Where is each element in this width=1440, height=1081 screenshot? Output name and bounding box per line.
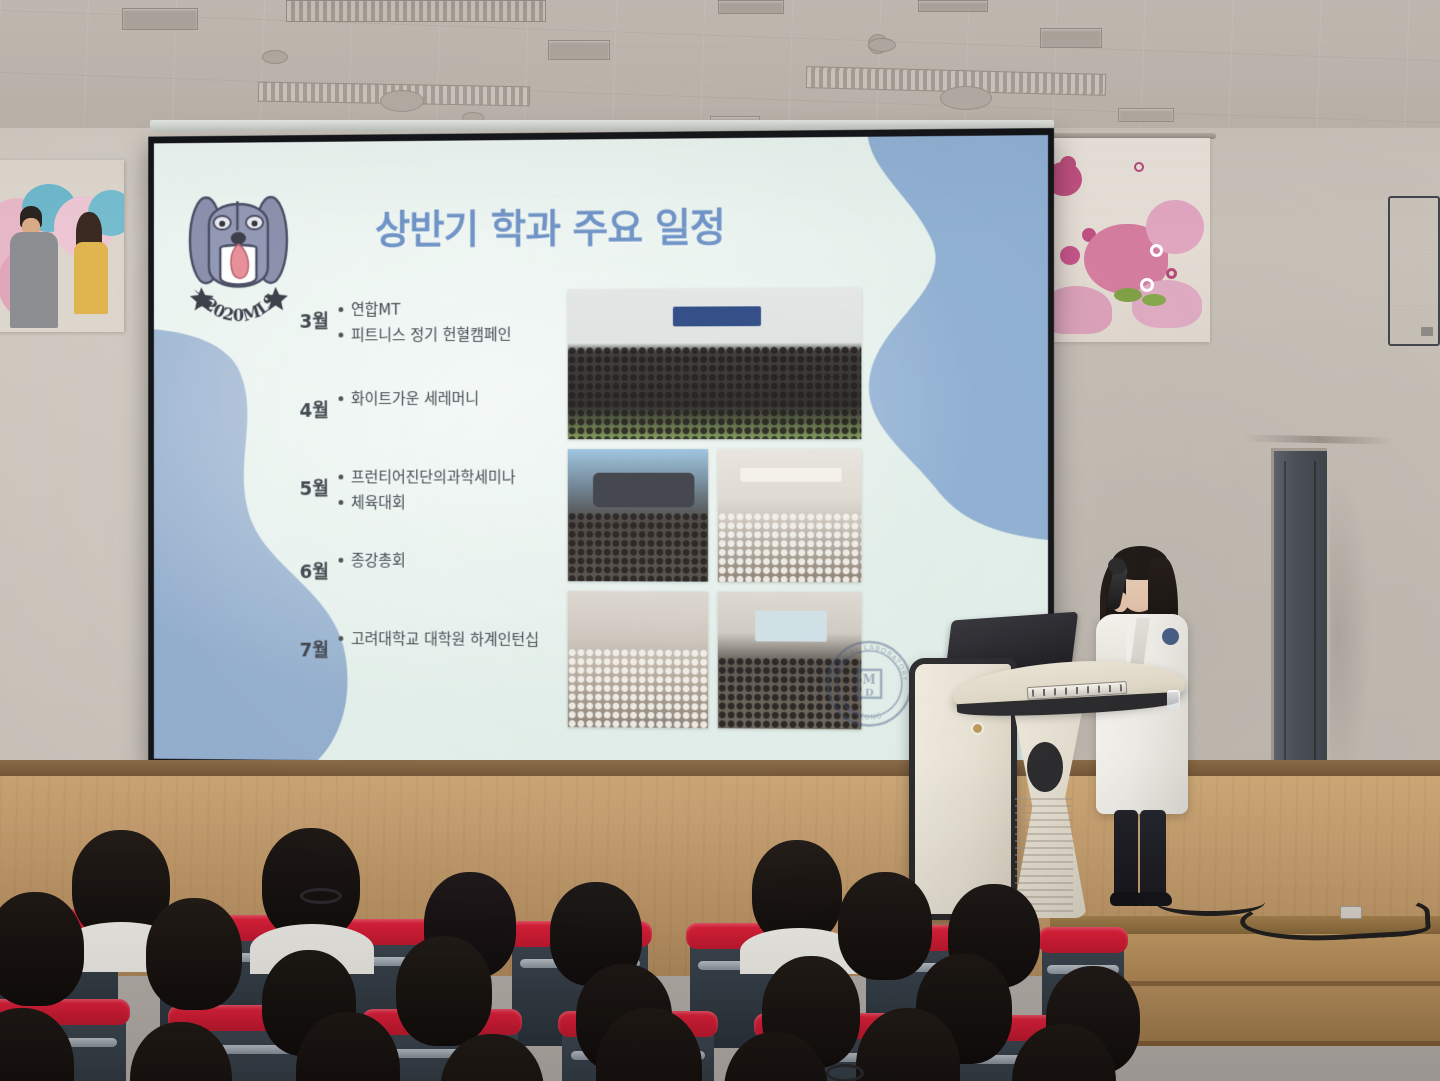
- photo-white-gown-ceremony: [718, 449, 862, 582]
- svg-text:D: D: [865, 688, 874, 699]
- mls-dog-mascot-logo: 2020MLS: [188, 183, 289, 328]
- blossom-leaf: [1114, 288, 1142, 302]
- poster-figure-male: [10, 232, 58, 328]
- lectern-lock-icon[interactable]: [973, 724, 982, 733]
- ceiling-smoke-detector: [868, 38, 896, 52]
- agenda-row: 7월 고려대학교 대학원 하계인턴십: [296, 627, 556, 664]
- door-panel-line: [1314, 461, 1316, 800]
- seated-audience: [0, 826, 1440, 1081]
- ceiling-light-fixture: [286, 0, 546, 22]
- agenda-items: 고려대학교 대학원 하계인턴십: [339, 627, 557, 653]
- ceiling-vent: [1118, 108, 1174, 122]
- audience-head: [146, 898, 242, 1010]
- photo-crowd: [568, 512, 708, 581]
- audience-glasses-icon: [300, 888, 342, 904]
- photo-ceremony-hall-large: [568, 288, 862, 439]
- audience-glasses-icon: [826, 1064, 864, 1081]
- audience-head: [838, 872, 932, 980]
- wall-speaker: [1388, 196, 1440, 346]
- speaker-badge: [1421, 327, 1433, 336]
- bullet-icon: [339, 332, 344, 337]
- agenda-item: 고려대학교 대학원 하계인턴십: [339, 627, 557, 653]
- blossom-ring: [1150, 244, 1163, 257]
- audience-head: [396, 936, 492, 1046]
- svg-text:2020MLS: 2020MLS: [201, 289, 282, 325]
- agenda-row: 4월 화이트가운 세레머니: [296, 387, 556, 423]
- ceiling-speaker: [380, 90, 424, 112]
- blossom-ring: [1140, 278, 1154, 292]
- agenda-item: 화이트가운 세레머니: [339, 387, 557, 412]
- agenda-item-label: 연합MT: [351, 298, 400, 323]
- department-seal: M D MEDICAL LABORATORY SEOKYEONG: [826, 640, 913, 728]
- blossom-ring: [1134, 162, 1144, 172]
- agenda-item: 피트니스 정기 헌혈캠페인: [339, 322, 557, 348]
- agenda-item-label: 종강총회: [351, 549, 406, 574]
- agenda-month: 5월: [296, 466, 338, 501]
- student-illustration-poster: [0, 160, 124, 332]
- agenda-items: 종강총회: [339, 549, 557, 575]
- photo-collage: [568, 288, 862, 735]
- agenda-month: 4월: [296, 388, 338, 423]
- svg-text:M: M: [863, 673, 876, 687]
- photo-projection: [755, 611, 827, 641]
- bullet-icon: [339, 636, 344, 641]
- ceiling-vent: [548, 40, 610, 60]
- ceiling-smoke-detector: [262, 50, 288, 64]
- agenda-item: 체육대회: [339, 491, 557, 516]
- agenda-item: 종강총회: [339, 549, 557, 575]
- agenda-month: 7월: [296, 627, 338, 662]
- blossom-leaf: [1142, 294, 1166, 306]
- agenda-item-label: 체육대회: [351, 491, 406, 516]
- photo-crowd: [568, 648, 708, 728]
- ceiling-vent: [122, 8, 198, 30]
- photo-gown-banner: [741, 468, 841, 483]
- door-panel-line: [1284, 461, 1286, 800]
- audience-head: [0, 892, 84, 1006]
- blossom-petal: [1060, 246, 1080, 265]
- blossom-petal: [1060, 156, 1076, 172]
- ceiling-vent: [718, 0, 784, 14]
- seat-cushion: [1038, 927, 1128, 953]
- wall-shadow: [1330, 470, 1372, 800]
- bullet-icon: [339, 500, 344, 505]
- agenda-item: 연합MT: [339, 297, 557, 323]
- photo-blood-donation-bus: [568, 449, 708, 582]
- ceiling-tile-grid: [0, 0, 1440, 135]
- blossom-ring: [1166, 268, 1177, 279]
- ceiling-speaker: [940, 86, 992, 110]
- slide-title: 상반기 학과 주요 일정: [375, 195, 793, 255]
- agenda-item-label: 프런티어진단의과학세미나: [351, 466, 516, 491]
- lectern-speaker: [1027, 742, 1063, 792]
- photo-stage-banner: [673, 306, 761, 326]
- bullet-icon: [339, 307, 344, 312]
- ceiling-vent: [1040, 28, 1102, 48]
- lab-coat-emblem: [1162, 628, 1179, 645]
- agenda-row: 3월 연합MT 피트니스 정기 헌혈캠페인: [296, 297, 556, 348]
- bullet-icon: [339, 396, 344, 401]
- control-panel-buttons[interactable]: [1032, 684, 1122, 696]
- agenda-items: 연합MT 피트니스 정기 헌혈캠페인: [339, 297, 557, 348]
- bullet-icon: [339, 475, 344, 480]
- agenda-item: 프런티어진단의과학세미나: [339, 466, 557, 491]
- agenda-row: 5월 프런티어진단의과학세미나 체육대회: [296, 466, 556, 516]
- agenda-item-label: 화이트가운 세레머니: [351, 387, 479, 412]
- photo-bus-body: [593, 473, 694, 508]
- agenda-month: 6월: [296, 549, 338, 584]
- agenda-item-label: 고려대학교 대학원 하계인턴십: [351, 628, 539, 654]
- agenda-item-label: 피트니스 정기 헌혈캠페인: [351, 323, 511, 349]
- ceiling-vent: [918, 0, 988, 12]
- agenda-row: 6월 종강총회: [296, 549, 556, 585]
- side-door[interactable]: [1271, 448, 1327, 800]
- water-bottle: [1167, 690, 1180, 710]
- photo-seminar-group: [568, 591, 708, 728]
- agenda-list: 3월 연합MT 피트니스 정기 헌혈캠페인 4월: [296, 297, 556, 693]
- auditorium-scene: 2020MLS 상반기 학과 주요 일정 3월 연합MT: [0, 0, 1440, 1081]
- photo-crowd: [568, 345, 862, 439]
- poster-figure-female: [74, 242, 108, 314]
- agenda-month: 3월: [296, 298, 338, 333]
- agenda-items: 프런티어진단의과학세미나 체육대회: [339, 466, 557, 516]
- bullet-icon: [339, 558, 344, 563]
- ceiling: [0, 0, 1440, 135]
- agenda-items: 화이트가운 세레머니: [339, 387, 557, 412]
- photo-crowd: [718, 513, 862, 583]
